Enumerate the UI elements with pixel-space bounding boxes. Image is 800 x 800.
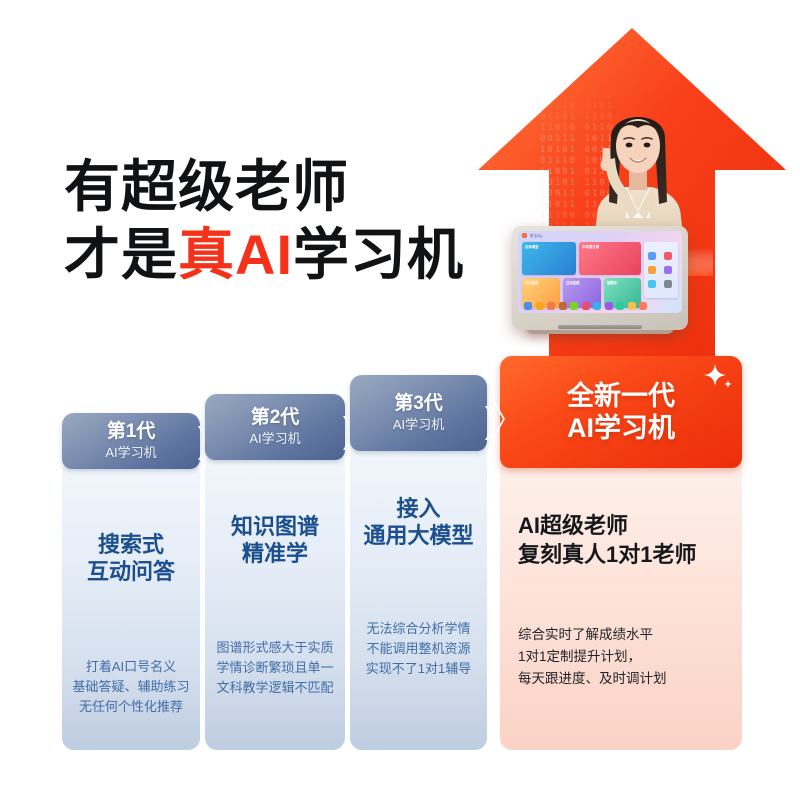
panel-app-icon[interactable] — [664, 280, 672, 288]
panel-app-icon[interactable] — [648, 252, 656, 260]
book-icon[interactable] — [536, 302, 544, 310]
desc-line: 不能调用整机资源 — [366, 641, 470, 656]
chat-icon[interactable] — [582, 302, 590, 310]
card-body: 搜索式 互动问答 打着AI口号名义 基础答疑、辅助练习 无任何个性化推荐 — [62, 461, 200, 750]
tablet-tile[interactable]: 中考提分课 — [579, 242, 641, 275]
desc-line: 基础答疑、辅助练习 — [72, 679, 189, 694]
card-badge-subtitle: AI学习机 — [105, 444, 156, 461]
card-badge: 全新一代 AI学习机 — [500, 356, 742, 468]
tile-label: 名师课堂 — [525, 245, 539, 250]
panel-app-icon[interactable] — [648, 266, 656, 274]
desc-line: 每天跟进度、及时调计划 — [518, 671, 667, 686]
card-badge: 第2代 AI学习机 — [205, 394, 345, 460]
generation-card-3[interactable]: 接入 通用大模型 无法综合分析学情 不能调用整机资源 实现不了1对1辅导 第3代… — [350, 375, 487, 750]
tablet-dock — [522, 301, 678, 311]
card-title-line-1: 知识图谱 — [231, 514, 319, 539]
card-description: 打着AI口号名义 基础答疑、辅助练习 无任何个性化推荐 — [62, 657, 200, 717]
panel-app-icon[interactable] — [664, 252, 672, 260]
sparkle-icon — [704, 364, 726, 386]
sparkle-small-icon — [724, 380, 732, 388]
headline-line-1: 有超级老师 — [64, 155, 349, 218]
tile-label: 互动答疑 — [566, 281, 580, 286]
headline-line-2: 才是真AI学习机 — [64, 224, 464, 286]
card-body: AI超级老师 复刻真人1对1老师 综合实时了解成绩水平 1对1定制提升计划， 每… — [500, 456, 742, 750]
card-badge: 第3代 AI学习机 — [350, 375, 487, 451]
avatar-icon[interactable] — [524, 302, 532, 310]
tablet-topbar: 学习中心 — [518, 231, 682, 240]
tablet-screen: 学习中心 名师课堂 中考提分课 — [518, 231, 682, 313]
card-body: 接入 通用大模型 无法综合分析学情 不能调用整机资源 实现不了1对1辅导 — [350, 443, 487, 750]
card-badge-title: 第2代 — [251, 407, 300, 429]
browser-icon[interactable] — [570, 302, 578, 310]
tablet-topbar-label: 学习中心 — [530, 233, 543, 238]
tablet-device: 学习中心 名师课堂 中考提分课 — [512, 226, 688, 334]
card-badge-subtitle: AI学习机 — [249, 430, 300, 447]
panel-app-icon[interactable] — [648, 280, 656, 288]
card-badge-subtitle: AI学习机 — [393, 416, 444, 433]
card-badge-subtitle: AI学习机 — [567, 412, 675, 444]
card-title: 知识图谱 精准学 — [205, 513, 345, 567]
headline-accent: 真AI — [178, 223, 293, 286]
desc-line: 实现不了1对1辅导 — [366, 661, 471, 676]
tile-label: 中考提分课 — [582, 245, 599, 250]
tile-label: 作业批改 — [525, 281, 539, 286]
hero-arrow-graphic: 01001 101010110 010101101 110011010 0110… — [470, 18, 800, 398]
music-icon[interactable] — [605, 302, 613, 310]
page-headline: 有超级老师 才是真AI学习机 — [64, 156, 464, 286]
card-body: 知识图谱 精准学 图谱形式感大于实质 学情诊断繁琐且单一 文科教学逻辑不匹配 — [205, 452, 345, 750]
card-title-line-1: 搜索式 — [98, 532, 164, 557]
card-title-line-2: 互动问答 — [87, 559, 175, 584]
card-title-line-2: 通用大模型 — [363, 523, 473, 548]
card-title-line-1: AI超级老师 — [518, 513, 628, 538]
generation-card-1[interactable]: 搜索式 互动问答 打着AI口号名义 基础答疑、辅助练习 无任何个性化推荐 第1代… — [62, 413, 200, 750]
desc-line: 图谱形式感大于实质 — [216, 640, 333, 655]
headline-line2-post: 学习机 — [293, 223, 464, 286]
tablet-apps-panel[interactable] — [644, 242, 678, 298]
tile-label: 错题本 — [607, 281, 617, 286]
tablet-tile[interactable]: 名师课堂 — [522, 242, 576, 275]
card-badge-title: 第1代 — [107, 421, 156, 443]
card-title-line-2: 复刻真人1对1老师 — [518, 542, 696, 567]
desc-line: 文科教学逻辑不匹配 — [216, 680, 333, 695]
desc-line: 打着AI口号名义 — [86, 659, 176, 674]
desc-line: 无任何个性化推荐 — [79, 699, 183, 714]
card-description: 综合实时了解成绩水平 1对1定制提升计划， 每天跟进度、及时调计划 — [500, 624, 742, 690]
desc-line: 学情诊断繁琐且单一 — [216, 660, 333, 675]
clock-icon[interactable] — [616, 302, 624, 310]
card-description: 无法综合分析学情 不能调用整机资源 实现不了1对1辅导 — [350, 619, 487, 679]
desc-line: 无法综合分析学情 — [366, 621, 470, 636]
headline-line2-pre: 才是 — [64, 223, 178, 286]
card-title: 接入 通用大模型 — [350, 495, 487, 549]
tablet-body: 学习中心 名师课堂 中考提分课 — [512, 226, 688, 330]
desc-line: 1对1定制提升计划， — [518, 649, 641, 664]
promo-poster: 01001 101010110 010101101 110011010 0110… — [0, 0, 800, 800]
pen-icon[interactable] — [547, 302, 555, 310]
generation-card-2[interactable]: 知识图谱 精准学 图谱形式感大于实质 学情诊断繁琐且单一 文科教学逻辑不匹配 第… — [205, 394, 345, 750]
card-badge: 第1代 AI学习机 — [62, 413, 200, 469]
camera-icon[interactable] — [559, 302, 567, 310]
tablet-tile-grid: 名师课堂 中考提分课 作业批改 — [522, 242, 678, 300]
gallery-icon[interactable] — [628, 302, 636, 310]
app-logo-icon — [522, 233, 527, 238]
card-badge-title: 全新一代 — [567, 380, 675, 412]
generation-card-new[interactable]: AI超级老师 复刻真人1对1老师 综合实时了解成绩水平 1对1定制提升计划， 每… — [500, 356, 742, 750]
card-title: AI超级老师 复刻真人1对1老师 — [500, 511, 742, 569]
card-description: 图谱形式感大于实质 学情诊断繁琐且单一 文科教学逻辑不匹配 — [205, 638, 345, 698]
store-icon[interactable] — [639, 302, 647, 310]
panel-app-icon[interactable] — [664, 266, 672, 274]
card-title: 搜索式 互动问答 — [62, 531, 200, 585]
card-title-line-2: 精准学 — [242, 541, 308, 566]
card-title-line-1: 接入 — [396, 496, 440, 521]
desc-line: 综合实时了解成绩水平 — [518, 627, 653, 642]
card-badge-title: 第3代 — [394, 393, 443, 415]
tablet-hinge — [558, 325, 642, 329]
settings-icon[interactable] — [593, 302, 601, 310]
